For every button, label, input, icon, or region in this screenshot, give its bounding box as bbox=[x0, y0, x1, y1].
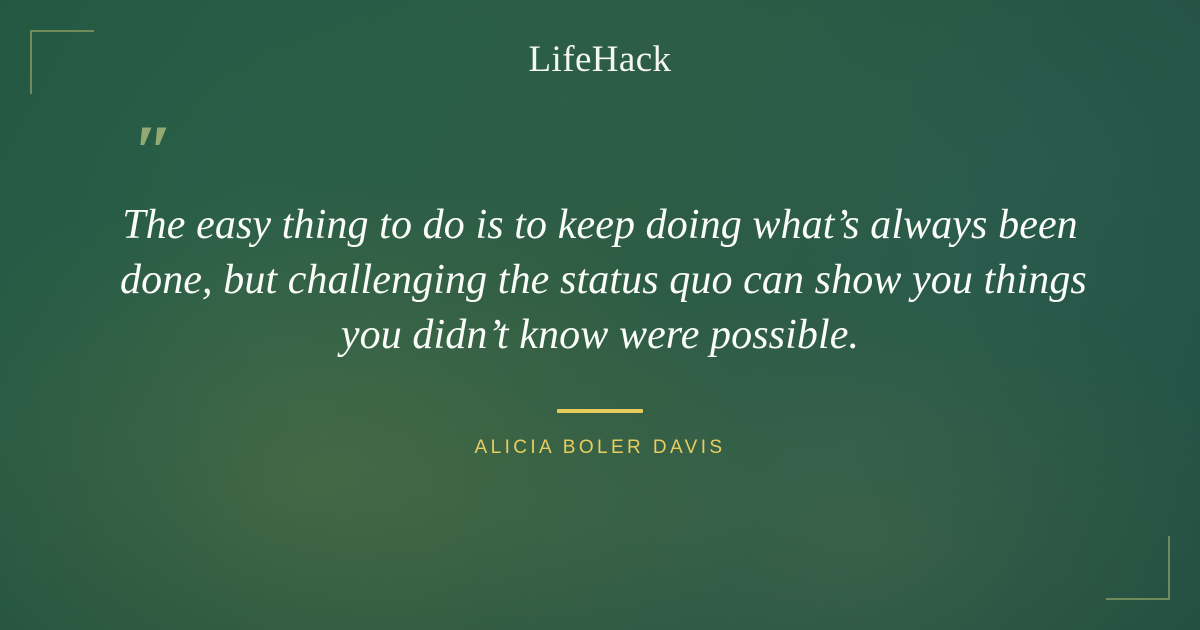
quotation-mark-icon: ″ bbox=[133, 130, 1073, 176]
quote-line: done, but challenging the status quo can… bbox=[120, 253, 1080, 308]
quote-block: ″ The easy thing to do is to keep doing … bbox=[0, 130, 1200, 459]
quote-text: The easy thing to do is to keep doing wh… bbox=[120, 198, 1080, 363]
quote-attribution: ALICIA BOLER DAVIS bbox=[475, 437, 726, 459]
quote-card: LifeHack ″ The easy thing to do is to ke… bbox=[0, 0, 1200, 630]
corner-bracket-bottom-right-icon bbox=[1106, 536, 1170, 600]
quote-line: you didn’t know were possible. bbox=[120, 308, 1080, 363]
quote-line: The easy thing to do is to keep doing wh… bbox=[120, 198, 1080, 253]
divider-rule bbox=[557, 409, 643, 413]
brand-logo: LifeHack bbox=[0, 38, 1200, 81]
